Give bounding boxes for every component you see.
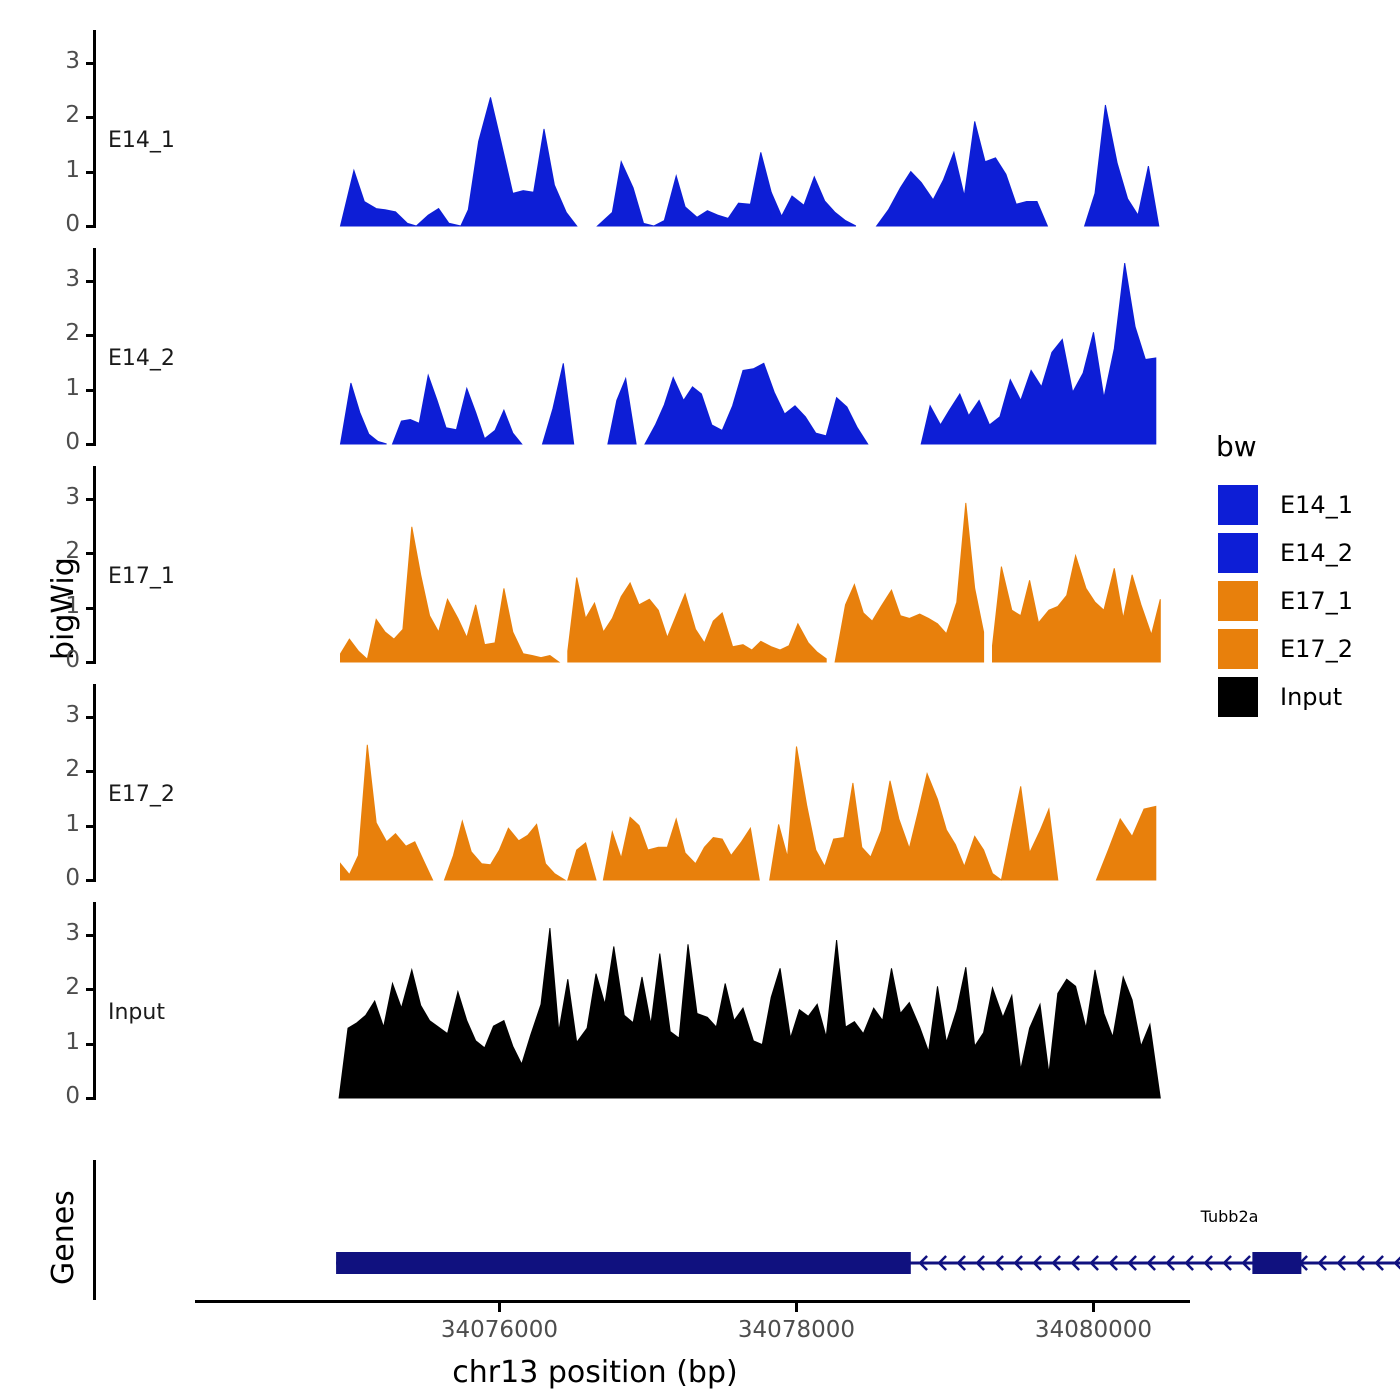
panel-input: [0, 902, 1400, 1104]
x-tick: [795, 1303, 798, 1312]
signal-area: [1085, 105, 1159, 226]
legend-label: E17_2: [1280, 635, 1353, 663]
legend-item-e17_1[interactable]: E17_1: [1218, 581, 1353, 621]
signal-track-e14_2: [0, 248, 1400, 450]
legend-item-e17_2[interactable]: E17_2: [1218, 629, 1353, 669]
signal-track-e17_2: [0, 684, 1400, 886]
x-axis-title: chr13 position (bp): [0, 1355, 1190, 1390]
legend-label: E14_2: [1280, 539, 1353, 567]
legend-label: E14_1: [1280, 491, 1353, 519]
panel-e17_2: [0, 684, 1400, 886]
panel-e14_2: [0, 248, 1400, 450]
legend-swatch-e17_2: [1218, 629, 1258, 669]
x-tick-label: 34078000: [738, 1317, 855, 1343]
signal-area: [598, 152, 772, 226]
exon-block: [336, 1252, 911, 1274]
signal-area: [645, 363, 868, 444]
genome-browser-figure: bigWig Genes 0123E14_10123E14_20123E17_1…: [0, 0, 1400, 1400]
signal-area: [341, 383, 387, 444]
gene-model-panel: [0, 1233, 1400, 1293]
x-tick-label: 34076000: [441, 1317, 558, 1343]
signal-area: [835, 503, 984, 662]
legend-swatch-input: [1218, 677, 1258, 717]
signal-area: [608, 379, 636, 444]
signal-track-input: [0, 902, 1400, 1104]
legend-item-e14_2[interactable]: E14_2: [1218, 533, 1353, 573]
signal-area: [1096, 806, 1155, 880]
x-axis-line: [195, 1300, 1190, 1303]
legend-title: bw: [1216, 430, 1257, 463]
legend-swatch-e14_1: [1218, 485, 1258, 525]
signal-area: [568, 578, 826, 663]
signal-area: [993, 556, 1161, 662]
signal-area: [771, 177, 856, 226]
signal-area: [543, 363, 574, 444]
gene-model-tubb2a: [0, 1233, 1400, 1293]
legend-item-input[interactable]: Input: [1218, 677, 1342, 717]
x-tick-label: 34080000: [1035, 1317, 1152, 1343]
signal-area: [339, 928, 1160, 1098]
signal-area: [341, 97, 577, 226]
gene-name-label: Tubb2a: [1201, 1207, 1259, 1226]
signal-area: [393, 375, 522, 444]
panel-e14_1: [0, 30, 1400, 232]
legend-swatch-e17_1: [1218, 581, 1258, 621]
legend-swatch-e14_2: [1218, 533, 1258, 573]
signal-area: [877, 121, 1048, 226]
legend-label: E17_1: [1280, 587, 1353, 615]
panel-e17_1: [0, 466, 1400, 668]
signal-area: [921, 263, 1156, 444]
signal-area: [770, 747, 1058, 881]
signal-area: [341, 745, 433, 880]
signal-area: [603, 817, 759, 880]
exon-block: [1252, 1252, 1301, 1274]
x-tick: [1092, 1303, 1095, 1312]
signal-area: [341, 527, 559, 662]
legend-label: Input: [1280, 683, 1342, 711]
x-tick: [498, 1303, 501, 1312]
signal-area: [568, 843, 596, 880]
signal-track-e14_1: [0, 30, 1400, 232]
signal-track-e17_1: [0, 466, 1400, 668]
legend-item-e14_1[interactable]: E14_1: [1218, 485, 1353, 525]
signal-area: [445, 821, 565, 880]
